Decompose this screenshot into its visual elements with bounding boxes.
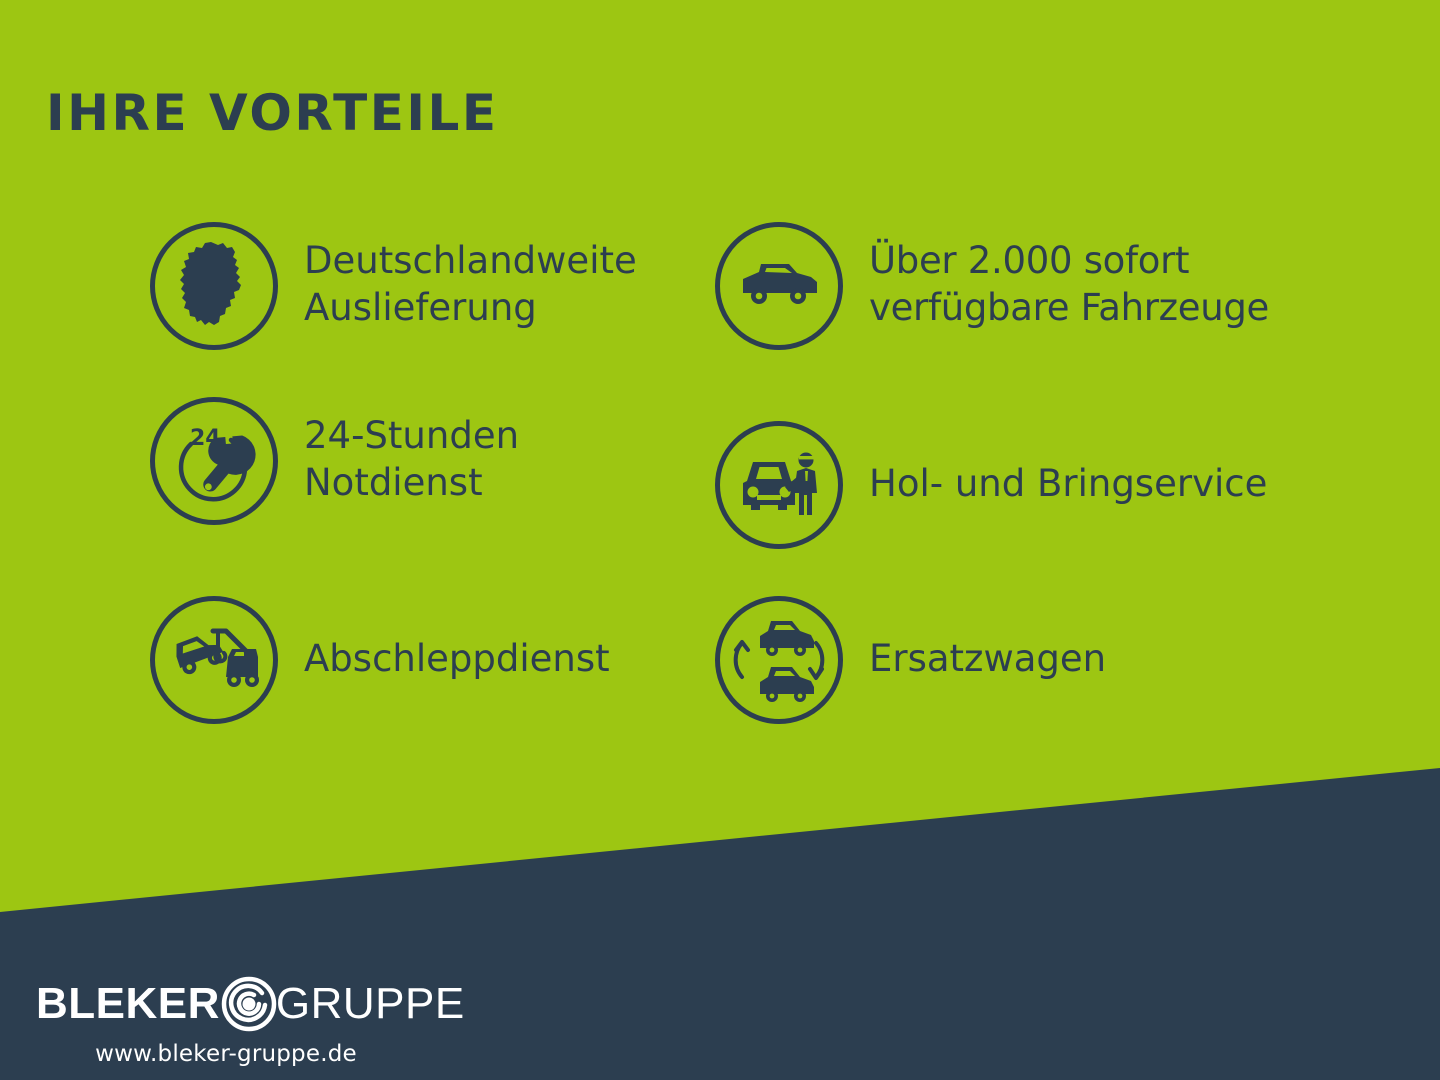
tow-truck-icon xyxy=(150,596,278,724)
benefit-item-hol-und-bringservice: Hol- und Bringservice xyxy=(715,397,1275,572)
benefit-item-abschleppdienst: Abschleppdienst xyxy=(150,572,710,747)
slide: IHRE VORTEILE Deutschlandweite Ausliefer… xyxy=(0,0,1440,1080)
car-side-icon xyxy=(715,222,843,350)
logo-wordmark-row: BLEKER GRUPPE xyxy=(36,975,416,1033)
logo-secondary-text: GRUPPE xyxy=(276,982,465,1026)
badge-24-text: 24 xyxy=(190,426,221,451)
benefit-item-verfuegbare-fahrzeuge: Über 2.000 sofort verfügbare Fahrzeuge xyxy=(715,222,1275,397)
benefit-item-ersatzwagen: Ersatzwagen xyxy=(715,572,1275,747)
logo-primary-text: BLEKER xyxy=(36,982,220,1026)
page-title: IHRE VORTEILE xyxy=(46,88,498,138)
twentyfour-hour-wrench-icon: 24 xyxy=(150,397,278,525)
footer-logo: BLEKER GRUPPE www.bleker-gruppe.de xyxy=(36,975,416,1067)
car-exchange-icon xyxy=(715,596,843,724)
benefit-label: Abschleppdienst xyxy=(304,636,610,683)
benefits-grid: Deutschlandweite Auslieferung Über 2.000… xyxy=(150,222,1390,747)
car-with-driver-icon xyxy=(715,421,843,549)
benefit-item-24-stunden-notdienst: 24 24-Stunden Notdienst xyxy=(150,397,710,572)
benefit-label: Ersatzwagen xyxy=(869,636,1106,683)
footer-url: www.bleker-gruppe.de xyxy=(36,1041,416,1067)
benefit-label: Deutschlandweite Auslieferung xyxy=(304,222,637,331)
spiral-circle-icon xyxy=(218,971,280,1037)
benefit-label: Hol- und Bringservice xyxy=(869,461,1267,508)
benefit-label: Über 2.000 sofort verfügbare Fahrzeuge xyxy=(869,222,1269,331)
benefit-label: 24-Stunden Notdienst xyxy=(304,397,519,506)
germany-map-icon xyxy=(150,222,278,350)
benefit-item-deutschlandweite-auslieferung: Deutschlandweite Auslieferung xyxy=(150,222,710,397)
